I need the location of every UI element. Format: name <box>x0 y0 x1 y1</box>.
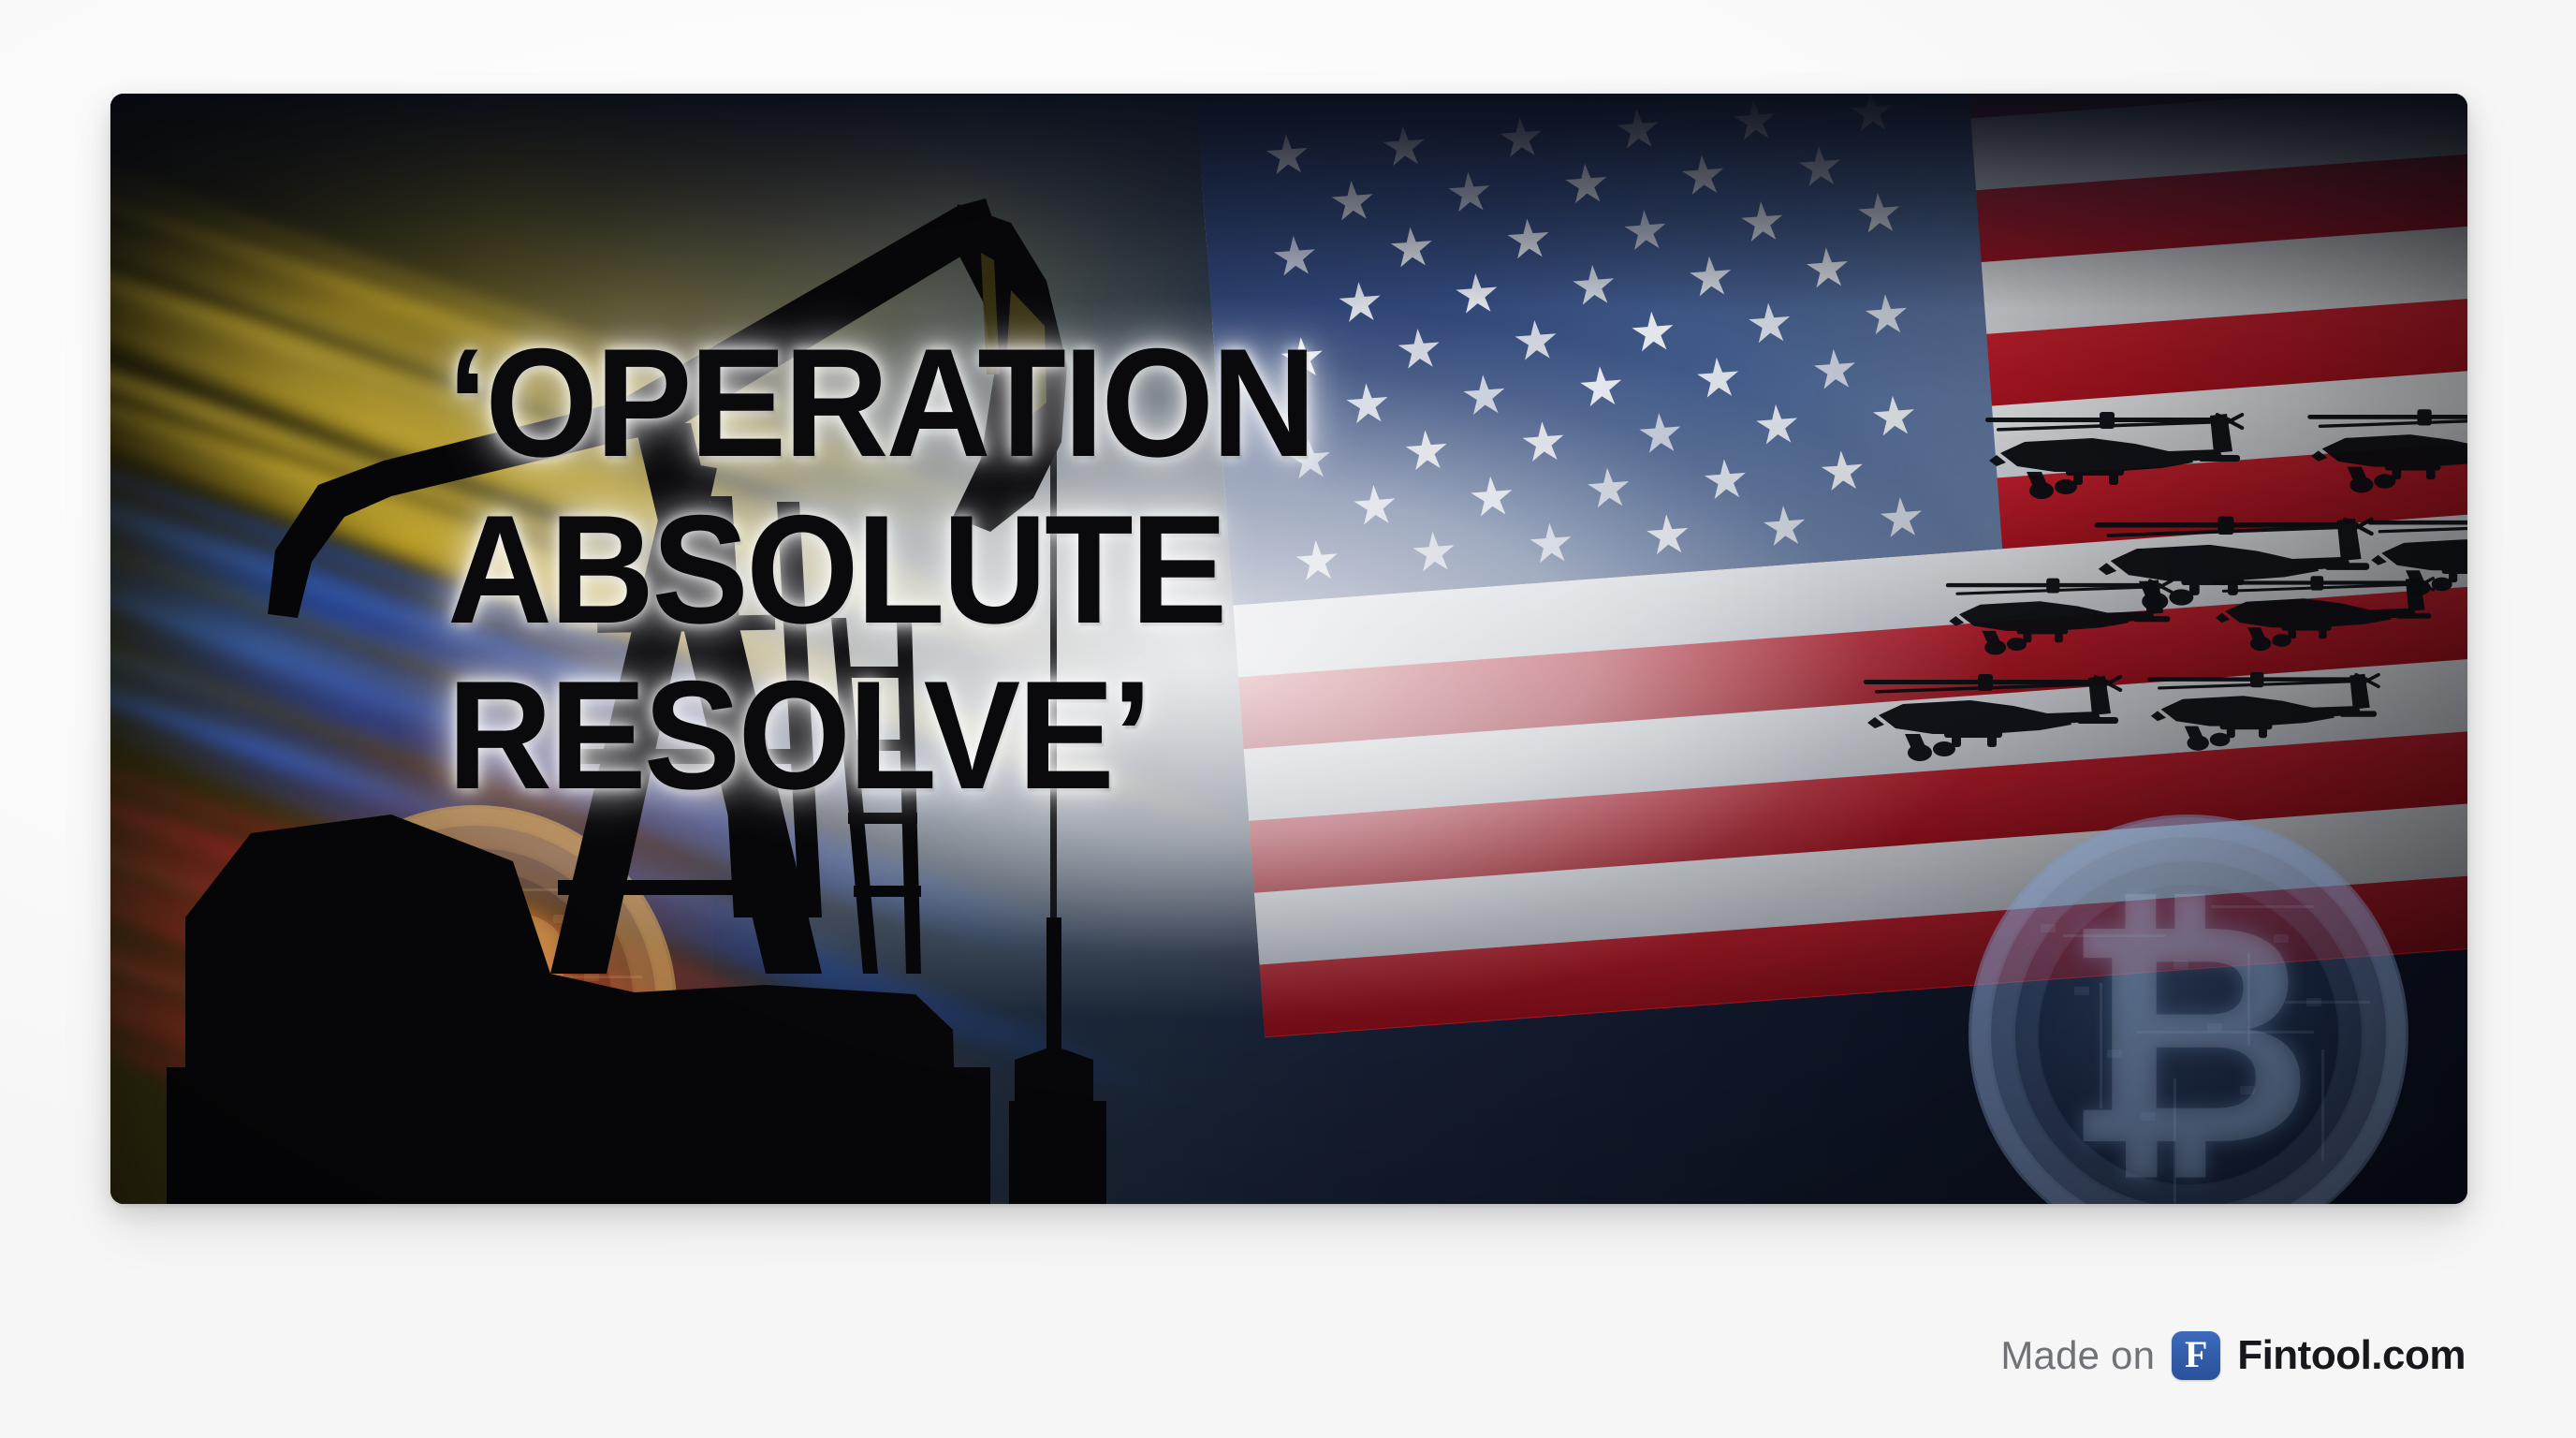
page-root: ₿ ₿ <box>0 0 2576 1438</box>
made-on-fintool-branding[interactable]: Made on F Fintool.com <box>2000 1331 2466 1380</box>
fintool-site-name: Fintool.com <box>2237 1332 2466 1379</box>
headline-line-3: RESOLVE’ <box>447 660 1486 812</box>
headline-line-1: ‘OPERATION <box>447 328 1486 479</box>
fintool-logo-icon: F <box>2172 1331 2220 1380</box>
made-on-label: Made on <box>2000 1333 2155 1378</box>
fintool-logo-letter: F <box>2185 1336 2207 1373</box>
headline: ‘OPERATION ABSOLUTE RESOLVE’ <box>447 328 1552 812</box>
headline-line-2: ABSOLUTE <box>447 494 1486 646</box>
hero-image-card: ₿ ₿ <box>110 94 2467 1204</box>
